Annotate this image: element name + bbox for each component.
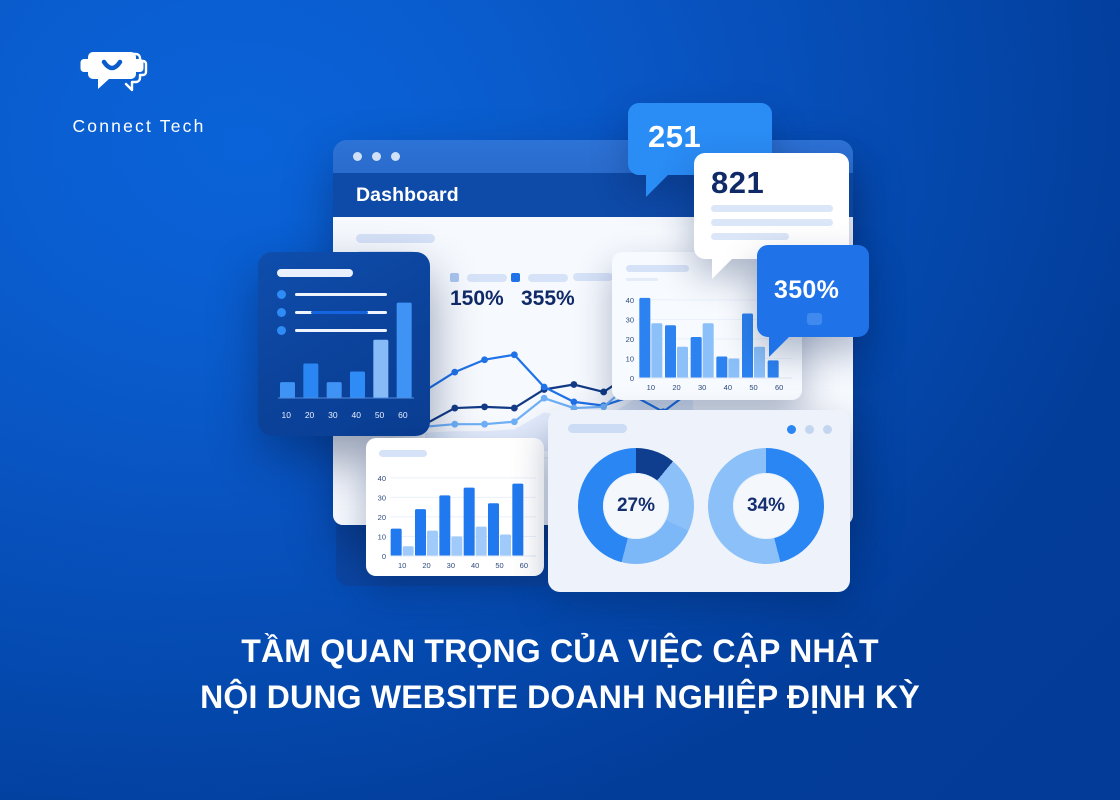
bubble-value: 350% <box>774 276 839 305</box>
poster-canvas: Connect Tech Dashboard <box>0 0 1120 800</box>
donut-window[interactable]: 27% 34% <box>548 410 850 592</box>
bottom-bar-card[interactable]: 010203040102030405060 <box>366 438 544 576</box>
window-dot-active[interactable] <box>787 425 796 434</box>
axis-tick-label: 10 <box>282 410 291 420</box>
donut-center-label: 34% <box>733 473 799 539</box>
x-axis-tick: 30 <box>698 383 706 392</box>
y-axis-tick: 0 <box>630 374 634 383</box>
headline: TẦM QUAN TRỌNG CỦA VIỆC CẬP NHẬT NỘI DUN… <box>0 628 1120 720</box>
traffic-dot-close[interactable] <box>353 152 362 161</box>
bubble-line <box>711 205 833 212</box>
window-dot-idle[interactable] <box>805 425 814 434</box>
donut-chart-27[interactable]: 27% <box>578 448 694 564</box>
page-title: Dashboard <box>356 184 459 207</box>
dark-metrics-card[interactable]: 102030405060 <box>258 252 430 436</box>
stat-bubble-821[interactable]: 821 <box>694 153 849 259</box>
y-axis-tick: 30 <box>626 315 634 324</box>
x-axis-tick: 50 <box>749 383 757 392</box>
donut-value: 27% <box>617 495 655 517</box>
x-axis-tick: 20 <box>672 383 680 392</box>
donut-center-label: 27% <box>603 473 669 539</box>
legend-item-3[interactable] <box>573 273 613 281</box>
dark-card-bar-chart <box>276 288 416 408</box>
axis-tick-label: 20 <box>305 410 314 420</box>
y-axis-tick: 20 <box>378 513 386 522</box>
x-axis-tick: 60 <box>520 561 528 570</box>
x-axis-tick: 30 <box>447 561 455 570</box>
card-title-skeleton <box>379 450 427 457</box>
skeleton-line <box>356 234 435 243</box>
axis-tick-label: 60 <box>398 410 407 420</box>
card-subtitle-skeleton <box>626 278 658 281</box>
stat-bubble-350[interactable]: 350% <box>757 245 869 337</box>
card-title-skeleton <box>626 265 689 272</box>
bubble-line <box>711 219 833 226</box>
bubble-square-icon <box>807 313 822 325</box>
donut-value: 34% <box>747 495 785 517</box>
bubble-tail <box>769 337 789 357</box>
window-dot-idle[interactable] <box>823 425 832 434</box>
bubble-tail <box>646 175 668 197</box>
headline-line-2: NỘI DUNG WEBSITE DOANH NGHIỆP ĐỊNH KỲ <box>0 674 1120 720</box>
x-axis-tick: 40 <box>471 561 479 570</box>
y-axis-tick: 30 <box>378 493 386 502</box>
legend-label-skeleton <box>573 273 613 281</box>
headline-line-1: TẦM QUAN TRỌNG CỦA VIỆC CẬP NHẬT <box>0 628 1120 674</box>
brand-logo: Connect Tech <box>44 42 234 137</box>
axis-tick-label: 30 <box>328 410 337 420</box>
y-axis-tick: 10 <box>378 532 386 541</box>
bottom-card-bar-chart: 010203040102030405060 <box>372 466 540 572</box>
window-dots <box>787 425 832 434</box>
traffic-dot-maximize[interactable] <box>391 152 400 161</box>
y-axis-tick: 10 <box>626 354 634 363</box>
legend-label-skeleton <box>528 274 568 282</box>
bubble-line <box>711 233 789 240</box>
x-axis-tick: 10 <box>398 561 406 570</box>
x-axis-tick: 60 <box>775 383 783 392</box>
legend-item-2[interactable] <box>511 273 568 282</box>
brand-name: Connect Tech <box>44 116 234 137</box>
kpi-value-2: 355% <box>521 287 575 311</box>
y-axis-tick: 20 <box>626 335 634 344</box>
y-axis-tick: 0 <box>382 552 386 561</box>
bubble-value: 821 <box>711 165 764 201</box>
bubble-value: 251 <box>648 119 701 155</box>
window-title-skeleton <box>568 424 627 433</box>
axis-tick-label: 50 <box>375 410 384 420</box>
legend-swatch <box>450 273 459 282</box>
donut-chart-34[interactable]: 34% <box>708 448 824 564</box>
y-axis-tick: 40 <box>378 474 386 483</box>
bubble-tail <box>712 259 732 279</box>
y-axis-tick: 40 <box>626 296 634 305</box>
x-axis-tick: 40 <box>724 383 732 392</box>
legend-swatch <box>511 273 520 282</box>
axis-tick-label: 40 <box>352 410 361 420</box>
x-axis-tick: 10 <box>647 383 655 392</box>
legend-item-1[interactable] <box>450 273 507 282</box>
traffic-dot-minimize[interactable] <box>372 152 381 161</box>
x-axis-tick: 20 <box>422 561 430 570</box>
chat-bubble-smile-icon <box>76 42 156 102</box>
x-axis-tick: 50 <box>495 561 503 570</box>
card-title-skeleton <box>277 269 353 277</box>
kpi-value-1: 150% <box>450 287 504 311</box>
legend-label-skeleton <box>467 274 507 282</box>
